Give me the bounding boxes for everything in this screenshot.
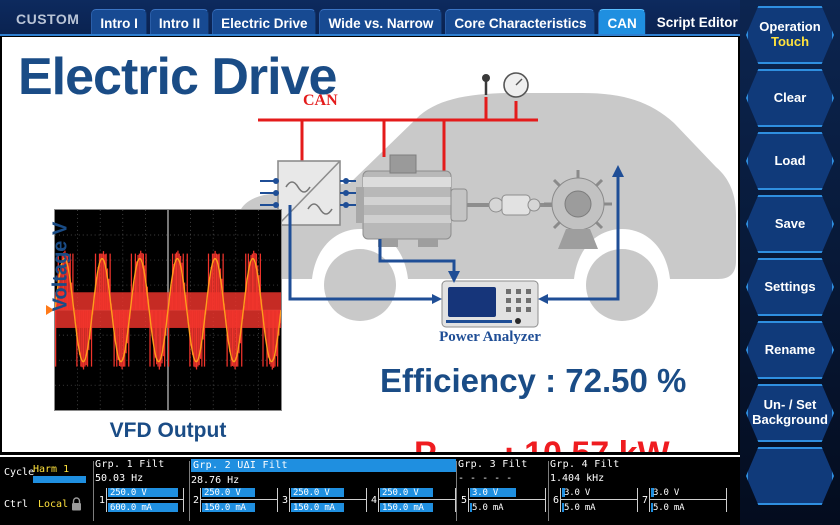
voltage-value: 250.0 V: [293, 488, 330, 498]
current-value: 5.0 mA: [472, 503, 503, 513]
softkey-label: Rename: [765, 343, 816, 358]
channel-bargraph: 250.0 V150.0 mA: [378, 487, 456, 513]
status-group-separator: [456, 461, 457, 521]
tab-list: Intro IIntro IIElectric DriveWide vs. Na…: [91, 9, 748, 36]
ploss-value: 10.57 kW: [524, 435, 670, 452]
ploss-label: P: [414, 435, 437, 452]
bargraph-axis: [200, 499, 278, 500]
softkey-load[interactable]: Load: [746, 132, 834, 190]
channel-row-3[interactable]: 3250.0 V150.0 mA: [282, 487, 367, 513]
channel-row-1[interactable]: 1250.0 V600.0 mA: [99, 487, 184, 513]
current-value: 5.0 mA: [653, 503, 684, 513]
tab-bar-underline: [0, 34, 740, 36]
efficiency-value: 72.50 %: [565, 362, 686, 399]
lock-icon-svg: [71, 497, 82, 511]
softkey-save[interactable]: Save: [746, 195, 834, 253]
bargraph-right-tick: [277, 488, 278, 512]
status-bar: Cycle Harm 1 Ctrl Local Grp. 1 Filt50.03…: [0, 455, 740, 525]
bargraph-right-tick: [455, 488, 456, 512]
channel-bargraph: 250.0 V150.0 mA: [200, 487, 278, 513]
tab-label: Electric Drive: [221, 16, 307, 31]
softkey-rename[interactable]: Rename: [746, 321, 834, 379]
oscilloscope-display[interactable]: [54, 209, 282, 411]
tab-label: CAN: [607, 16, 636, 31]
bargraph-axis: [468, 499, 546, 500]
bargraph-right-tick: [545, 488, 546, 512]
measurement-group-3[interactable]: Grp. 3 Filt- - - - -: [458, 459, 548, 484]
channel-row-2[interactable]: 2250.0 V150.0 mA: [193, 487, 278, 513]
can-bus-label: CAN: [303, 92, 338, 109]
voltage-value: 250.0 V: [204, 488, 241, 498]
group-frequency: - - - - -: [458, 473, 548, 484]
ploss-subscript: LOSS: [437, 451, 494, 452]
scope-x-axis-label: VFD Output: [54, 419, 282, 443]
group-frequency: 28.76 Hz: [191, 475, 456, 486]
efficiency-readout: Efficiency : 72.50 %: [380, 362, 686, 400]
tab-electric-drive[interactable]: Electric Drive: [212, 9, 316, 36]
bargraph-axis: [560, 499, 638, 500]
current-value: 5.0 mA: [564, 503, 595, 513]
scope-y-axis-label: Voltage V: [50, 202, 73, 332]
status-group-separator: [189, 461, 190, 521]
channel-row-5[interactable]: 53.0 V5.0 mA: [461, 487, 546, 513]
device-screen: CUSTOM Intro IIntro IIElectric DriveWide…: [0, 0, 840, 525]
channel-number: 3: [282, 495, 288, 506]
current-value: 150.0 mA: [204, 503, 246, 513]
tab-label: Core Characteristics: [454, 16, 586, 31]
bargraph-axis: [649, 499, 727, 500]
tab-intro-ii[interactable]: Intro II: [150, 9, 209, 36]
softkey-settings[interactable]: Settings: [746, 258, 834, 316]
main-content-panel: Electric Drive CAN: [2, 37, 738, 452]
softkey-label: Un- / Set: [764, 398, 817, 413]
softkey-sublabel: Background: [752, 413, 828, 428]
bargraph-axis: [106, 499, 184, 500]
scope-waveform: [55, 210, 281, 410]
softkey-label: Save: [775, 217, 805, 232]
softkey-un-set[interactable]: Un- / SetBackground: [746, 384, 834, 442]
bargraph-left-tick: [649, 488, 650, 512]
tab-script-editor[interactable]: Script Editor: [649, 9, 746, 36]
tab-core-characteristics[interactable]: Core Characteristics: [445, 9, 595, 36]
cycle-bar: [33, 476, 86, 483]
efficiency-label: Efficiency :: [380, 362, 565, 399]
softkey-label: Clear: [774, 91, 807, 106]
channel-bargraph: 3.0 V5.0 mA: [468, 487, 546, 513]
bargraph-right-tick: [183, 488, 184, 512]
inverter-icon: [278, 161, 340, 225]
bargraph-right-tick: [726, 488, 727, 512]
channel-bargraph: 250.0 V150.0 mA: [289, 487, 367, 513]
bargraph-axis: [378, 499, 456, 500]
current-value: 150.0 mA: [293, 503, 335, 513]
tab-label: Intro I: [100, 16, 138, 31]
group-header: Grp. 2 UΔI Filt: [191, 459, 456, 472]
softkey-blank[interactable]: [746, 447, 834, 505]
channel-bargraph: 3.0 V5.0 mA: [560, 487, 638, 513]
channel-number: 2: [193, 495, 199, 506]
power-analyzer-label: Power Analyzer: [439, 329, 541, 344]
channel-row-6[interactable]: 63.0 V5.0 mA: [553, 487, 638, 513]
group-frequency: 50.03 Hz: [95, 473, 189, 484]
front-wheel-icon: [586, 249, 658, 321]
soft-key-sidebar: OperationTouchClearLoadSaveSettingsRenam…: [740, 0, 840, 525]
softkey-label: Operation: [759, 20, 820, 35]
arrow-to-analyzer-3: [538, 294, 548, 304]
measurement-group-2[interactable]: Grp. 2 UΔI Filt28.76 Hz: [191, 459, 456, 486]
tab-wide-vs-narrow[interactable]: Wide vs. Narrow: [319, 9, 442, 36]
bargraph-right-tick: [366, 488, 367, 512]
softkey-sublabel: Touch: [771, 35, 809, 50]
power-loss-readout: PLOSS : 10.57 kW: [414, 435, 670, 452]
tab-label: Wide vs. Narrow: [328, 16, 433, 31]
current-value: 150.0 mA: [382, 503, 424, 513]
tab-label: Intro II: [159, 16, 200, 31]
group-header: Grp. 3 Filt: [458, 459, 548, 470]
voltage-value: 3.0 V: [472, 488, 498, 498]
softkey-label: Load: [774, 154, 805, 169]
voltage-value: 3.0 V: [564, 488, 590, 498]
measurement-group-1[interactable]: Grp. 1 Filt50.03 Hz: [95, 459, 189, 484]
arrow-to-analyzer-1: [432, 294, 442, 304]
channel-row-4[interactable]: 4250.0 V150.0 mA: [371, 487, 456, 513]
lock-icon: [71, 497, 82, 514]
ploss-separator: :: [494, 435, 524, 452]
channel-bargraph: 3.0 V5.0 mA: [649, 487, 727, 513]
cycle-value[interactable]: Harm 1: [33, 464, 69, 475]
voltage-value: 250.0 V: [110, 488, 147, 498]
bargraph-left-tick: [378, 488, 379, 512]
bargraph-left-tick: [468, 488, 469, 512]
softkey-operation[interactable]: OperationTouch: [746, 6, 834, 64]
custom-label: CUSTOM: [8, 11, 91, 36]
channel-row-7[interactable]: 73.0 V5.0 mA: [642, 487, 727, 513]
bargraph-left-tick: [560, 488, 561, 512]
current-value: 600.0 mA: [110, 503, 152, 513]
bargraph-left-tick: [106, 488, 107, 512]
softkey-label: Settings: [764, 280, 815, 295]
bargraph-right-tick: [637, 488, 638, 512]
channel-bargraph: 250.0 V600.0 mA: [106, 487, 184, 513]
group-header: Grp. 4 Filt: [550, 459, 738, 470]
drivetrain-diagram: CAN: [230, 49, 738, 344]
channel-number: 5: [461, 495, 467, 506]
channel-number: 7: [642, 495, 648, 506]
bargraph-left-tick: [289, 488, 290, 512]
status-group-separator: [93, 461, 94, 521]
group-header: Grp. 1 Filt: [95, 459, 189, 470]
tab-intro-i[interactable]: Intro I: [91, 9, 147, 36]
tab-can[interactable]: CAN: [598, 9, 645, 36]
measurement-group-4[interactable]: Grp. 4 Filt1.404 kHz: [550, 459, 738, 484]
softkey-clear[interactable]: Clear: [746, 69, 834, 127]
tab-bar: CUSTOM Intro IIntro IIElectric DriveWide…: [0, 0, 740, 36]
channel-number: 4: [371, 495, 377, 506]
channel-number: 1: [99, 495, 105, 506]
power-analyzer-icon: [442, 281, 538, 327]
cycle-label: Cycle: [4, 467, 34, 478]
tab-label: Script Editor: [657, 15, 738, 30]
bargraph-axis: [289, 499, 367, 500]
bargraph-left-tick: [200, 488, 201, 512]
sensor-bulb-icon: [482, 74, 490, 82]
voltage-value: 250.0 V: [382, 488, 419, 498]
channel-number: 6: [553, 495, 559, 506]
ctrl-value[interactable]: Local: [38, 499, 68, 510]
status-bar-divider: [0, 455, 740, 457]
voltage-value: 3.0 V: [653, 488, 679, 498]
ctrl-label: Ctrl: [4, 499, 28, 510]
car-diagram-svg: CAN: [230, 49, 738, 344]
status-group-separator: [548, 461, 549, 521]
group-frequency: 1.404 kHz: [550, 473, 738, 484]
